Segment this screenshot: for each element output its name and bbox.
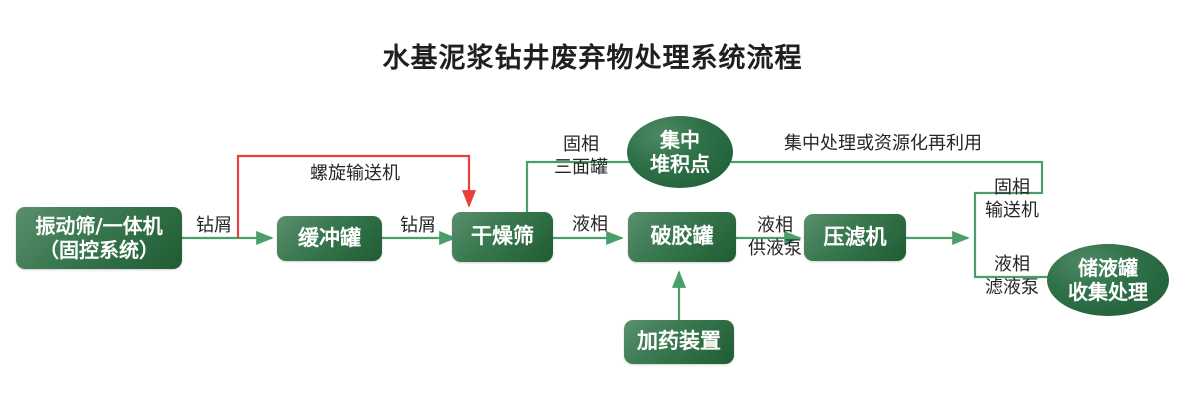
flowchart-canvas: 水基泥浆钻井废弃物处理系统流程 — [0, 0, 1185, 406]
edge-label-liquid-filtrate-pump-line1: 液相 — [976, 253, 1048, 276]
node-shaker-label-1: 振动筛/一体机 — [35, 214, 162, 238]
node-central-stockpile-label-2: 堆积点 — [650, 152, 710, 176]
node-dosing-device[interactable]: 加药装置 — [624, 320, 734, 364]
node-filter-press[interactable]: 压滤机 — [804, 214, 906, 261]
edge-label-solid-conveyor-line1: 固相 — [976, 176, 1048, 199]
node-drying-screen[interactable]: 干燥筛 — [452, 212, 553, 262]
edge-label-screw-conveyor: 螺旋输送机 — [285, 163, 425, 186]
edge-label-liquid-feed-pump-line2: 供液泵 — [739, 237, 811, 260]
edge-label-liquid-phase-1: 液相 — [562, 214, 618, 237]
node-shaker-label-2: （固控系统） — [39, 238, 159, 262]
node-shaker[interactable]: 振动筛/一体机 （固控系统） — [16, 207, 182, 269]
edge-label-liquid-filtrate-pump-line2: 滤液泵 — [976, 276, 1048, 299]
node-buffer-tank[interactable]: 缓冲罐 — [277, 216, 382, 261]
node-buffer-tank-label: 缓冲罐 — [298, 226, 361, 252]
edge-label-solid-three-sided-tank-line1: 固相 — [542, 133, 620, 156]
edge-label-solid-conveyor: 固相 输送机 — [976, 176, 1048, 223]
node-central-stockpile[interactable]: 集中 堆积点 — [627, 116, 733, 188]
edge-label-solid-three-sided-tank: 固相 三面罐 — [542, 133, 620, 180]
edge-label-solid-conveyor-line2: 输送机 — [976, 199, 1048, 222]
node-filter-press-label: 压滤机 — [824, 225, 887, 251]
edge-label-cuttings-2: 钻屑 — [390, 215, 446, 238]
edge-label-liquid-feed-pump: 液相 供液泵 — [739, 214, 811, 261]
edge-label-cuttings-1-text: 钻屑 — [196, 215, 232, 236]
edge-label-solid-three-sided-tank-line2: 三面罐 — [542, 156, 620, 179]
edge-label-cuttings-2-text: 钻屑 — [400, 215, 436, 236]
edge-label-screw-conveyor-text: 螺旋输送机 — [310, 163, 400, 184]
node-gel-breaker-tank-label: 破胶罐 — [651, 224, 714, 250]
node-dosing-device-label: 加药装置 — [637, 329, 721, 355]
node-storage-tank-label-2: 收集处理 — [1068, 280, 1148, 304]
edge-label-liquid-phase-1-text: 液相 — [572, 214, 608, 235]
edge-label-central-treatment-reuse: 集中处理或资源化再利用 — [767, 133, 999, 156]
edge-label-cuttings-1: 钻屑 — [186, 215, 242, 238]
node-storage-tank[interactable]: 储液罐 收集处理 — [1047, 244, 1169, 316]
edge-label-central-treatment-reuse-text: 集中处理或资源化再利用 — [784, 133, 982, 154]
edge-label-liquid-filtrate-pump: 液相 滤液泵 — [976, 253, 1048, 300]
node-central-stockpile-label-1: 集中 — [660, 128, 700, 152]
node-drying-screen-label: 干燥筛 — [471, 224, 534, 250]
node-storage-tank-label-1: 储液罐 — [1078, 256, 1138, 280]
node-gel-breaker-tank[interactable]: 破胶罐 — [628, 212, 736, 262]
edge-label-liquid-feed-pump-line1: 液相 — [739, 214, 811, 237]
